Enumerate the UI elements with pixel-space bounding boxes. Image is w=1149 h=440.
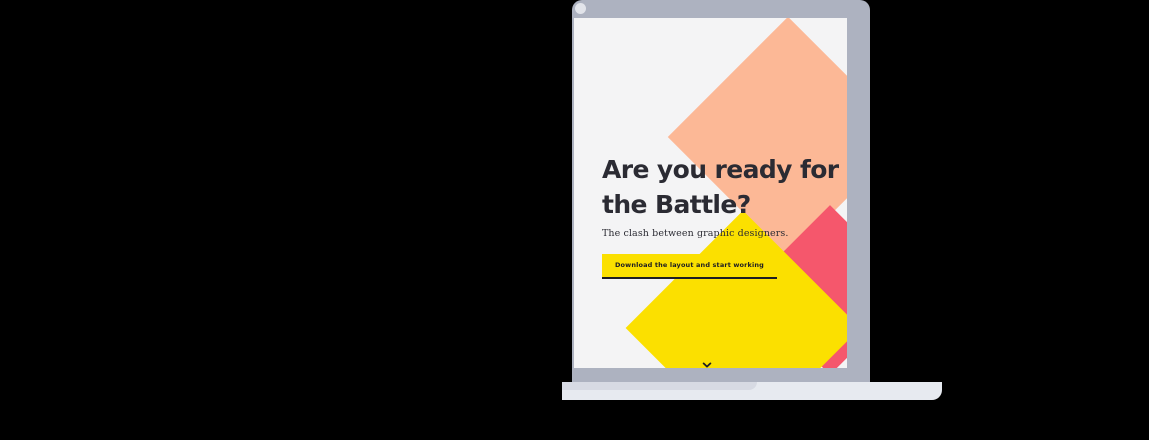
chevron-down-icon[interactable] bbox=[700, 358, 714, 368]
cta-wrapper: Download the layout and start working bbox=[602, 254, 777, 277]
laptop-deck-shadow bbox=[562, 382, 757, 390]
page-title: Are you ready for the Battle? bbox=[602, 153, 847, 222]
page-subtitle: The clash between graphic designers. bbox=[602, 228, 847, 239]
screen-content: Are you ready for the Battle? The clash … bbox=[574, 18, 847, 368]
hero-section: Are you ready for the Battle? The clash … bbox=[602, 153, 847, 277]
laptop-mockup: Are you ready for the Battle? The clash … bbox=[572, 0, 870, 382]
webcam-icon bbox=[575, 3, 586, 14]
laptop-base-bar bbox=[572, 368, 870, 382]
download-layout-button[interactable]: Download the layout and start working bbox=[602, 254, 777, 277]
